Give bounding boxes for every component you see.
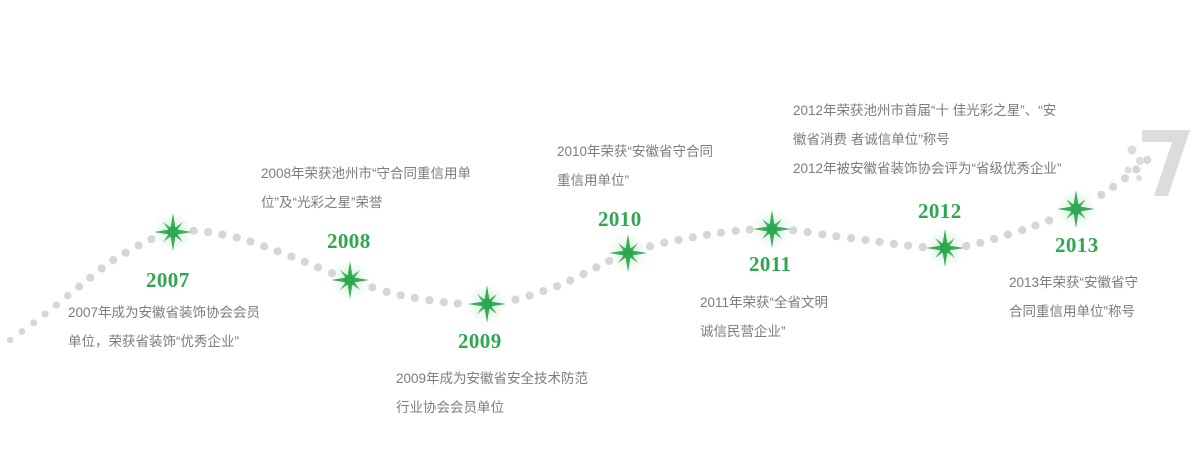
description-2011: 2011年荣获“全省文明诚信民营企业” xyxy=(700,288,828,346)
year-label-2013: 2013 xyxy=(1055,233,1099,258)
description-2008: 2008年荣获池州市“守合同重信用单位”及“光彩之星”荣誉 xyxy=(261,159,471,217)
star-marker-2009 xyxy=(467,284,507,324)
year-label-2007: 2007 xyxy=(146,268,190,293)
description-line: 重信用单位” xyxy=(557,166,713,195)
star-marker-2008 xyxy=(330,260,370,300)
description-line: 单位，荣获省装饰“优秀企业” xyxy=(68,327,260,356)
description-line: 2011年荣获“全省文明 xyxy=(700,288,828,317)
year-label-2012: 2012 xyxy=(918,199,962,224)
description-line: 诚信民营企业” xyxy=(700,317,828,346)
star-marker-2012 xyxy=(925,228,965,268)
star-marker-2013 xyxy=(1056,189,1096,229)
description-line: 2012年被安徽省装饰协会评为“省级优秀企业” xyxy=(793,154,1062,183)
star-marker-2010 xyxy=(608,233,648,273)
description-line: 位”及“光彩之星”荣誉 xyxy=(261,188,471,217)
year-label-2008: 2008 xyxy=(327,229,371,254)
star-marker-2011 xyxy=(752,209,792,249)
description-line: 合同重信用单位”称号 xyxy=(1009,297,1138,326)
description-line: 2012年荣获池州市首届“十 佳光彩之星”、“安 xyxy=(793,96,1062,125)
description-line: 2010年荣获“安徽省守合同 xyxy=(557,137,713,166)
year-label-2011: 2011 xyxy=(749,252,791,277)
description-2012: 2012年荣获池州市首届“十 佳光彩之星”、“安徽省消费 者诚信单位”称号201… xyxy=(793,96,1062,183)
description-line: 徽省消费 者诚信单位”称号 xyxy=(793,125,1062,154)
description-2013: 2013年荣获“安徽省守合同重信用单位”称号 xyxy=(1009,268,1138,326)
description-line: 2007年成为安徽省装饰协会会员 xyxy=(68,298,260,327)
description-2007: 2007年成为安徽省装饰协会会员单位，荣获省装饰“优秀企业” xyxy=(68,298,260,356)
description-line: 2013年荣获“安徽省守 xyxy=(1009,268,1138,297)
timeline-graphics-layer xyxy=(0,0,1200,465)
description-line: 2008年荣获池州市“守合同重信用单 xyxy=(261,159,471,188)
timeline-infographic: 20072007年成为安徽省装饰协会会员单位，荣获省装饰“优秀企业”200820… xyxy=(0,0,1200,465)
description-2010: 2010年荣获“安徽省守合同重信用单位” xyxy=(557,137,713,195)
year-label-2010: 2010 xyxy=(598,207,642,232)
star-marker-2007 xyxy=(153,212,193,252)
year-label-2009: 2009 xyxy=(458,329,502,354)
description-line: 2009年成为安徽省安全技术防范 xyxy=(396,364,588,393)
arrow-seven-decoration xyxy=(1125,130,1191,196)
description-line: 行业协会会员单位 xyxy=(396,393,588,422)
description-2009: 2009年成为安徽省安全技术防范行业协会会员单位 xyxy=(396,364,588,422)
